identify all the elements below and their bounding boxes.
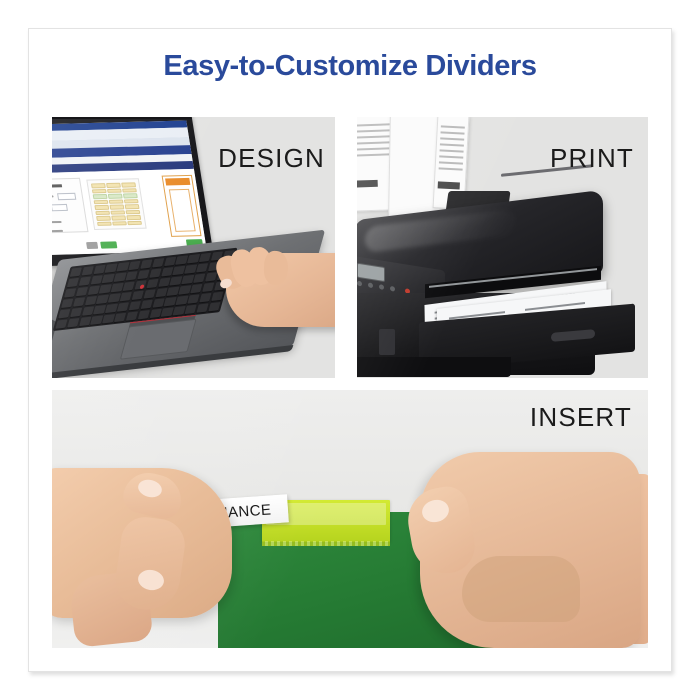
hand-typing bbox=[202, 237, 335, 341]
hand-left-holding-label bbox=[52, 458, 252, 648]
page-title: Easy-to-Customize Dividers bbox=[0, 50, 700, 83]
panel-design: DESIGN bbox=[52, 117, 335, 378]
product-feature-image: Easy-to-Customize Dividers bbox=[0, 0, 700, 700]
printer-foot bbox=[357, 357, 511, 377]
divider-tab-grid bbox=[86, 178, 146, 230]
panel-label-insert: INSERT bbox=[530, 402, 632, 433]
cancel-button[interactable] bbox=[86, 242, 98, 249]
panel-label-design: DESIGN bbox=[218, 143, 325, 174]
preview-pane bbox=[162, 175, 202, 237]
app-workspace bbox=[52, 169, 207, 256]
panel-insert: FINANCE INSERT bbox=[52, 390, 648, 648]
printer-port bbox=[379, 329, 395, 355]
design-form-panel bbox=[52, 178, 89, 234]
hand-right-holding-divider bbox=[400, 430, 648, 648]
panel-print: PRINT bbox=[357, 117, 648, 378]
panel-label-print: PRINT bbox=[550, 143, 634, 174]
laptop-screen bbox=[52, 120, 207, 255]
form-title bbox=[52, 184, 62, 188]
secondary-action-button[interactable] bbox=[100, 241, 117, 248]
printer-lcd-display bbox=[357, 263, 385, 282]
